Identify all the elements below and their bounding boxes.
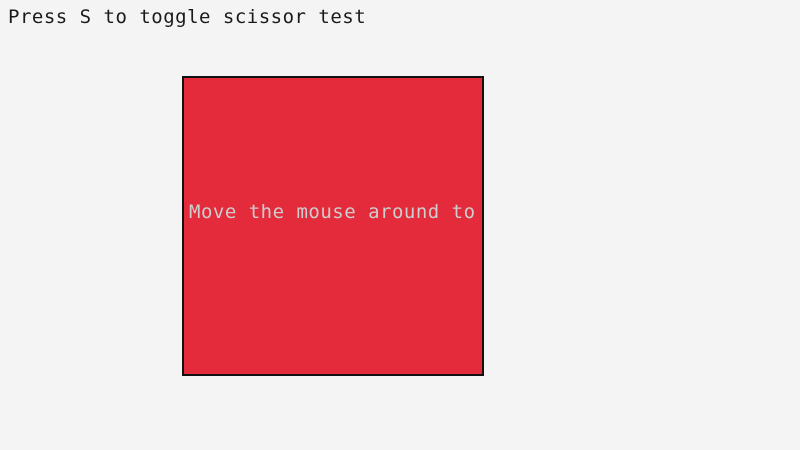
scissor-toggle-hint: Press S to toggle scissor test (8, 5, 366, 29)
scissor-rectangle[interactable]: Move the mouse around to r (182, 76, 484, 376)
clipped-message-text: Move the mouse around to r (189, 200, 484, 224)
demo-canvas[interactable]: Press S to toggle scissor test Move the … (0, 0, 800, 450)
